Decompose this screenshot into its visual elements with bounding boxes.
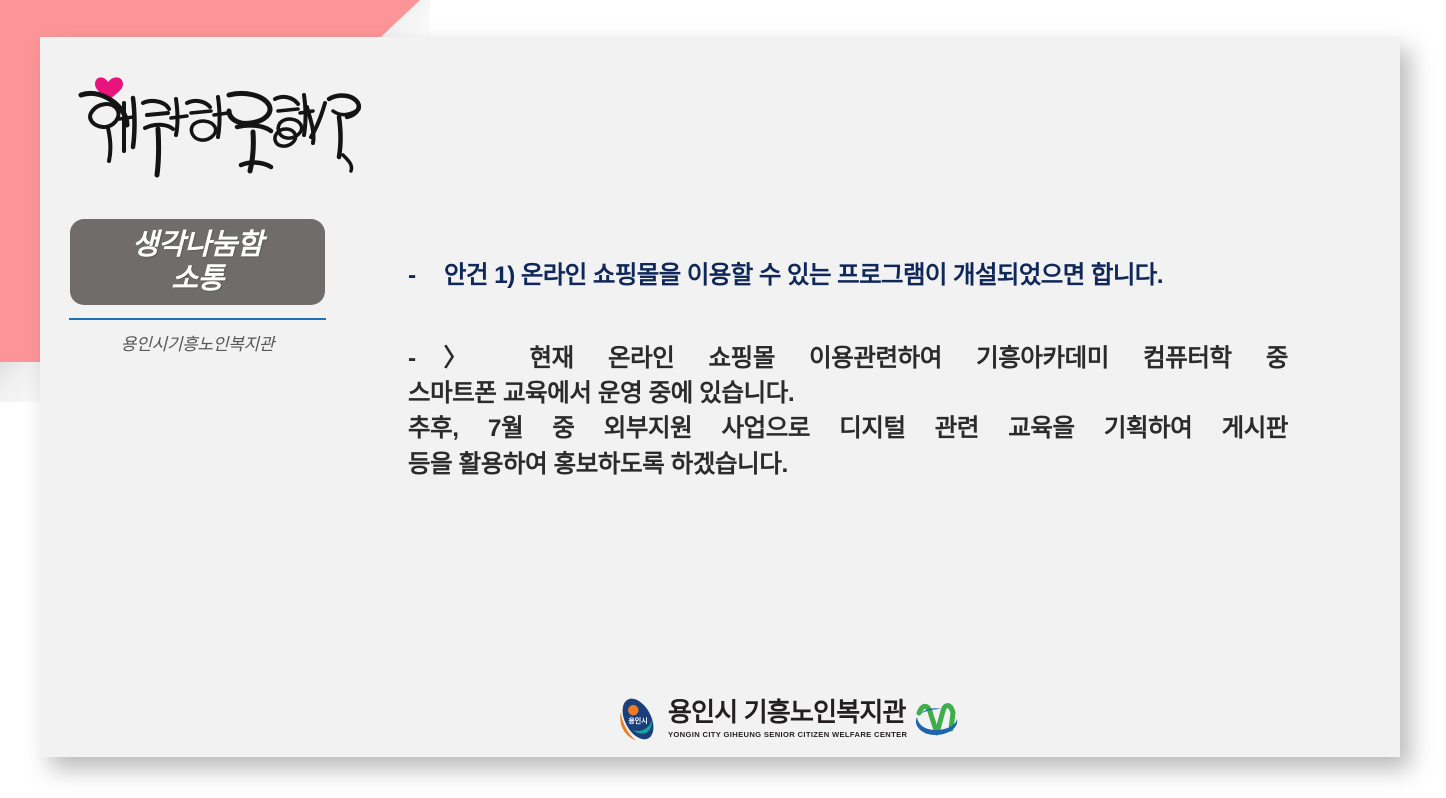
slide-root: 생각나눔함 소통 용인시기흥노인복지관 - 안건 1) 온라인 쇼핑몰을 이용할…	[0, 0, 1446, 798]
emblem-label: 용인시	[628, 716, 647, 725]
footer-logo-korean: 용인시 기흥노인복지관	[668, 699, 907, 726]
calligraphy-logo	[75, 55, 365, 185]
agenda-item: - 안건 1) 온라인 쇼핑몰을 이용할 수 있는 프로그램이 개설되었으면 합…	[408, 259, 1288, 294]
content-area: - 안건 1) 온라인 쇼핑몰을 이용할 수 있는 프로그램이 개설되었으면 합…	[408, 259, 1288, 482]
answer-line-1: -〉 현재 온라인 쇼핑몰 이용관련하여 기흥아카데미 컴퓨터학 중	[408, 341, 1288, 376]
organization-name: 용인시기흥노인복지관	[60, 330, 335, 355]
section-badge-line1: 생각나눔함	[132, 228, 263, 262]
footer-logo-text: 용인시 기흥노인복지관 YONGIN CITY GIHEUNG SENIOR C…	[668, 699, 907, 738]
sidebar-label-block: 생각나눔함 소통 용인시기흥노인복지관	[60, 219, 335, 355]
answer-line-4: 등을 활용하여 홍보하도록 하겠습니다.	[408, 447, 1288, 482]
footer-logo: 용인시 용인시 기흥노인복지관 YONGIN CITY GIHEUNG SENI…	[612, 690, 930, 748]
footer-logo-english: YONGIN CITY GIHEUNG SENIOR CITIZEN WELFA…	[668, 730, 907, 739]
sidebar-divider	[69, 318, 326, 320]
answer-block: -〉 현재 온라인 쇼핑몰 이용관련하여 기흥아카데미 컴퓨터학 중 스마트폰 …	[408, 341, 1288, 482]
slide-card: 생각나눔함 소통 용인시기흥노인복지관 - 안건 1) 온라인 쇼핑몰을 이용할…	[40, 37, 1400, 757]
section-badge-line2: 소통	[171, 262, 223, 296]
yongin-city-emblem-icon: 용인시	[612, 693, 664, 745]
answer-line-3: 추후, 7월 중 외부지원 사업으로 디지털 관련 교육을 기획하여 게시판	[408, 411, 1288, 446]
agenda-item-text: 안건 1) 온라인 쇼핑몰을 이용할 수 있는 프로그램이 개설되었으면 합니다…	[444, 259, 1288, 294]
answer-line-2: 스마트폰 교육에서 운영 중에 있습니다.	[408, 376, 1288, 411]
welfare-w-icon	[911, 695, 963, 743]
bullet-dash-marker: -	[408, 259, 444, 294]
section-badge: 생각나눔함 소통	[70, 219, 325, 305]
